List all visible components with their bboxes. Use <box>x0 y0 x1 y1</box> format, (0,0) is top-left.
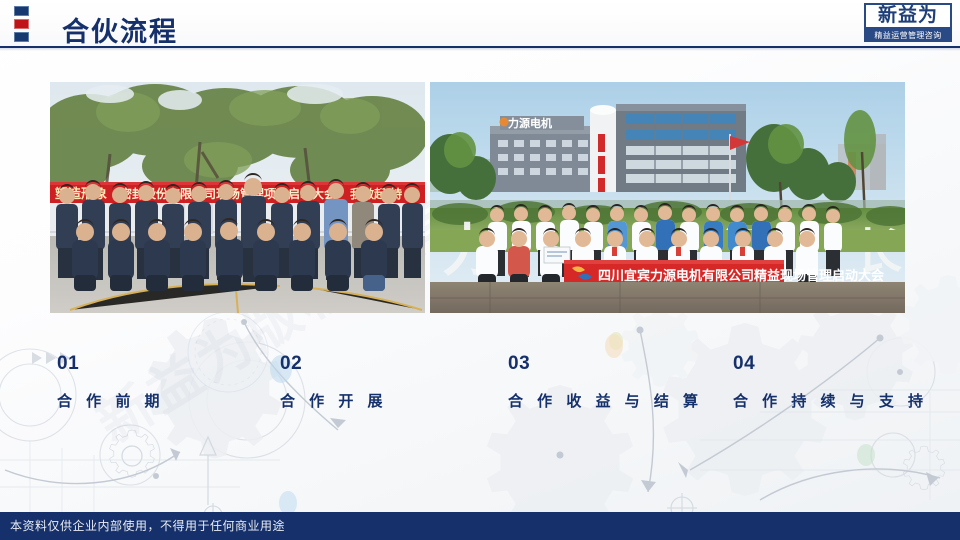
step-number: 01 <box>57 352 165 376</box>
step-item-01[interactable]: 01 合 作 前 期 <box>57 352 165 411</box>
step-number: 04 <box>733 352 928 376</box>
step-label: 合 作 前 期 <box>57 390 165 411</box>
process-steps: 01 合 作 前 期 02 合 作 开 展 03 合 作 收 益 与 结 算 0… <box>0 352 960 422</box>
step-number: 03 <box>508 352 703 376</box>
company-logo: 新益为 精益运营管理咨询 <box>864 3 952 43</box>
step-number: 02 <box>280 352 388 376</box>
header-divider-shadow <box>0 48 960 51</box>
footer-notice: 本资料仅供企业内部使用，不得用于任何商业用途 <box>10 512 285 540</box>
logo-tagline: 精益运营管理咨询 <box>864 29 952 42</box>
navy-square-icon <box>14 6 29 16</box>
step-item-02[interactable]: 02 合 作 开 展 <box>280 352 388 411</box>
page-title: 合伙流程 <box>62 10 178 49</box>
step-label: 合 作 开 展 <box>280 390 388 411</box>
slide-header: 合伙流程 新益为 精益运营管理咨询 <box>0 0 960 48</box>
navy-square-icon <box>14 32 29 42</box>
team-photo-left: 塑造形象 密封股份有限公司现场管理项目启动大会 我做起 持 <box>50 82 425 313</box>
photo-group: 塑造形象 密封股份有限公司现场管理项目启动大会 我做起 持 <box>0 0 960 540</box>
team-photo-right: 力源电机 <box>430 82 905 313</box>
logo-name: 新益为 <box>864 3 952 29</box>
step-item-03[interactable]: 03 合 作 收 益 与 结 算 <box>508 352 703 411</box>
slide-footer: 本资料仅供企业内部使用，不得用于任何商业用途 <box>0 512 960 540</box>
header-marks <box>14 6 30 44</box>
step-item-04[interactable]: 04 合 作 持 续 与 支 持 <box>733 352 928 411</box>
step-label: 合 作 持 续 与 支 持 <box>733 390 928 411</box>
step-label: 合 作 收 益 与 结 算 <box>508 390 703 411</box>
slide-root: 新益为版权所有 <box>0 0 960 540</box>
red-square-icon <box>14 19 29 29</box>
